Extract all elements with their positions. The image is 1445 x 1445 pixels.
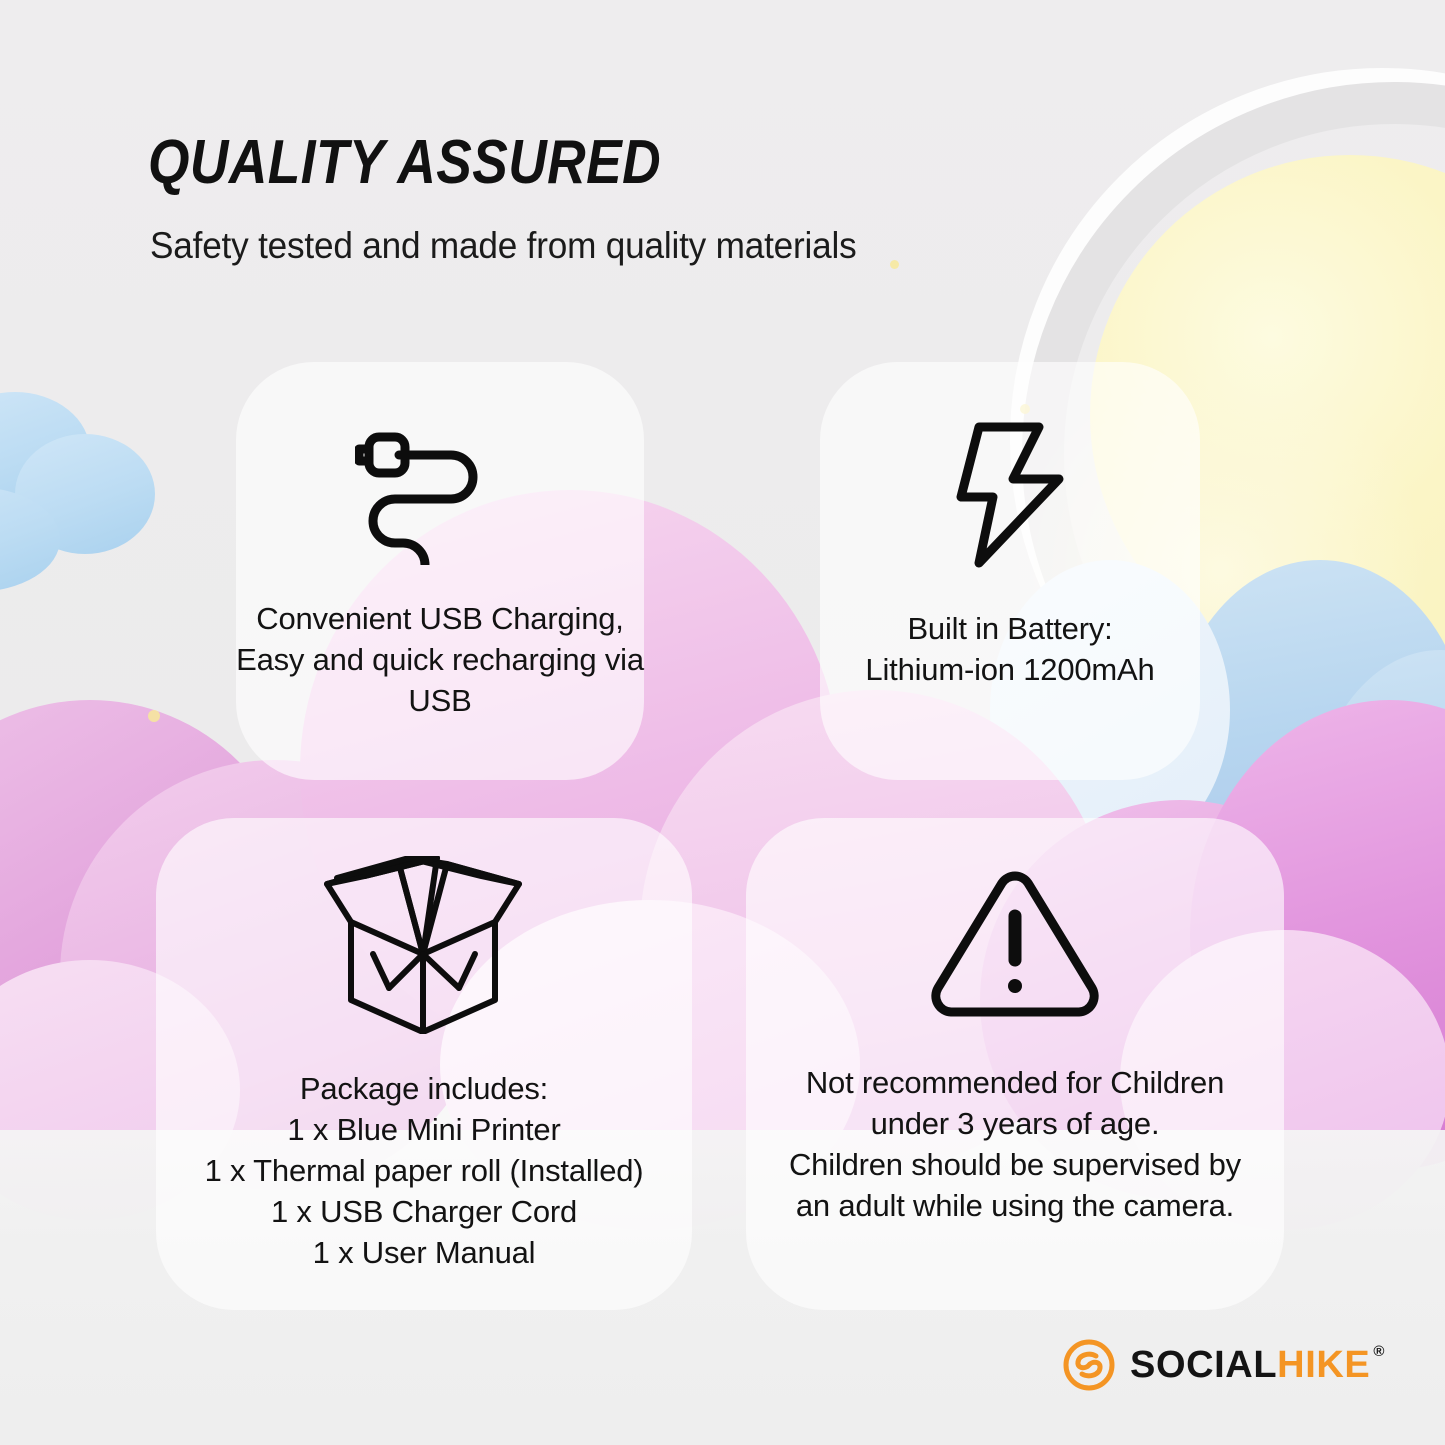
feature-card-age-warning: Not recommended for Children under 3 yea…: [746, 818, 1284, 1310]
open-box-icon: [313, 850, 535, 1040]
brand-word-social: SOCIAL: [1130, 1346, 1277, 1384]
usb-cable-icon: [355, 418, 525, 568]
page-subtitle: Safety tested and made from quality mate…: [150, 224, 857, 268]
feature-card-age-warning-text: Not recommended for Children under 3 yea…: [789, 1062, 1241, 1226]
feature-card-battery: Built in Battery: Lithium-ion 1200mAh: [820, 362, 1200, 780]
brand-wordmark: SOCIAL HIKE ®: [1130, 1346, 1385, 1384]
brand-logo: SOCIAL HIKE ®: [1062, 1338, 1385, 1392]
feature-card-battery-text: Built in Battery: Lithium-ion 1200mAh: [865, 608, 1154, 690]
registered-trademark-mark: ®: [1373, 1344, 1385, 1359]
feature-card-package-contents-text: Package includes: 1 x Blue Mini Printer …: [205, 1068, 644, 1273]
lightning-bolt-icon: [955, 420, 1065, 570]
infographic-poster: QUALITY ASSURED Safety tested and made f…: [0, 0, 1445, 1445]
feature-card-package-contents: Package includes: 1 x Blue Mini Printer …: [156, 818, 692, 1310]
poster-content: QUALITY ASSURED Safety tested and made f…: [0, 0, 1445, 1445]
warning-triangle-icon: [929, 858, 1101, 1028]
feature-card-usb-charging-text: Convenient USB Charging, Easy and quick …: [236, 598, 644, 721]
socialhike-swirl-icon: [1062, 1338, 1116, 1392]
feature-card-usb-charging: Convenient USB Charging, Easy and quick …: [236, 362, 644, 780]
brand-word-hike: HIKE: [1277, 1346, 1370, 1384]
page-title: QUALITY ASSURED: [148, 132, 661, 194]
